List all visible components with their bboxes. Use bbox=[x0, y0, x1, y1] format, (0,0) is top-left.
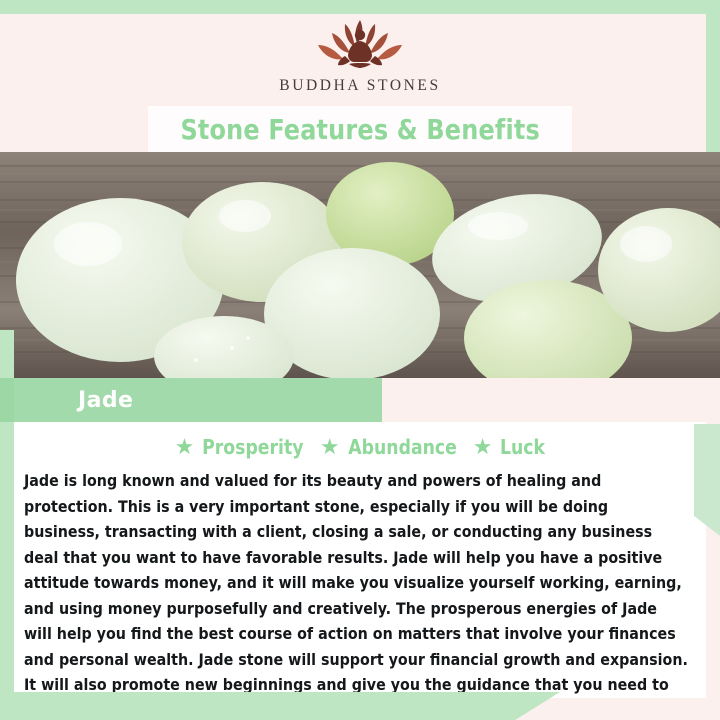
description-paragraph: Jade is long known and valued for its be… bbox=[24, 468, 688, 720]
content-card: ★ Prosperity ★ Abundance ★ Luck Jade is … bbox=[14, 422, 706, 698]
brand-logo: BUDDHA STONES bbox=[0, 14, 720, 108]
keyword-label: Abundance bbox=[348, 435, 457, 459]
star-icon: ★ bbox=[473, 436, 493, 458]
keyword-item-1: ★ Abundance bbox=[320, 435, 459, 459]
brand-name: BUDDHA STONES bbox=[279, 77, 440, 95]
stone-photo bbox=[0, 152, 720, 378]
keyword-list: ★ Prosperity ★ Abundance ★ Luck bbox=[14, 422, 706, 462]
keyword-item-2: ★ Luck bbox=[473, 435, 546, 459]
photo-caption: Jade bbox=[78, 388, 133, 413]
bottom-accent-band bbox=[0, 692, 560, 720]
page-title: Stone Features & Benefits bbox=[180, 113, 539, 146]
infographic-page: BUDDHA STONES bbox=[0, 0, 720, 720]
star-icon: ★ bbox=[175, 436, 195, 458]
top-accent-band bbox=[0, 0, 720, 14]
stone-photo-graphic bbox=[0, 152, 720, 378]
star-icon: ★ bbox=[320, 436, 340, 458]
keyword-label: Prosperity bbox=[202, 435, 303, 459]
title-banner: Stone Features & Benefits bbox=[148, 106, 572, 152]
keyword-item-0: ★ Prosperity bbox=[175, 435, 306, 459]
keyword-label: Luck bbox=[499, 435, 544, 459]
lotus-meditation-icon bbox=[301, 14, 419, 76]
right-accent-band bbox=[706, 0, 720, 152]
photo-caption-band: Jade bbox=[0, 378, 382, 422]
